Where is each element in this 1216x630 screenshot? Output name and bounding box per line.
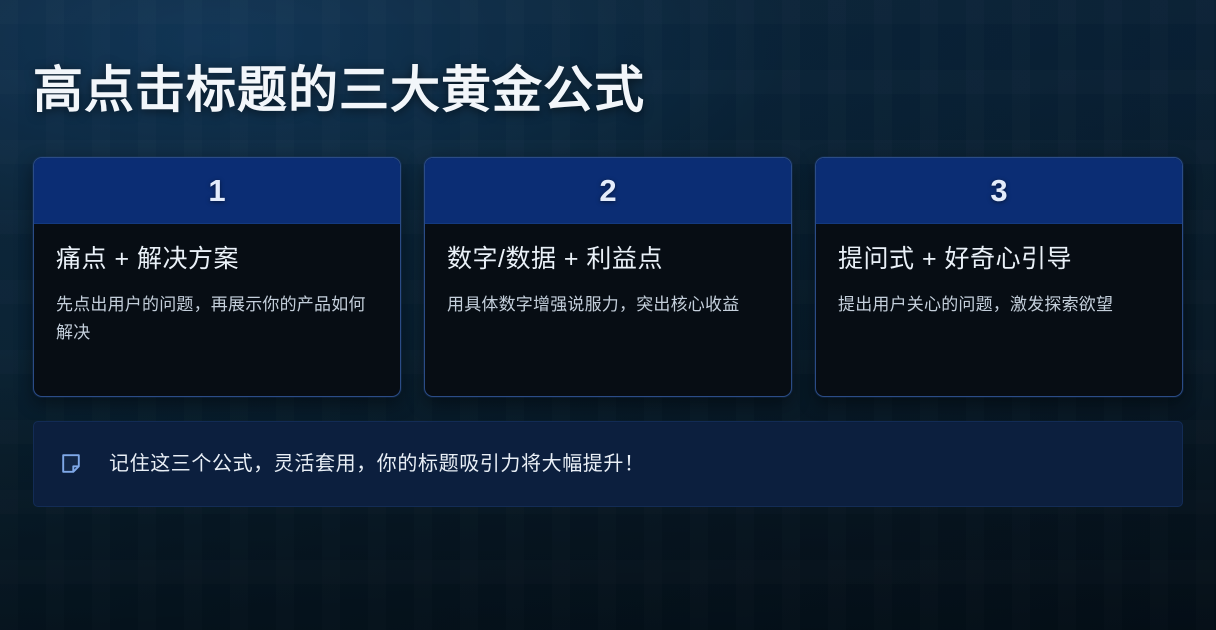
slide-content: 高点击标题的三大黄金公式 1 痛点 + 解决方案 先点出用户的问题，再展示你的产… <box>0 0 1216 507</box>
card-title-1: 痛点 + 解决方案 <box>56 244 378 275</box>
page-title: 高点击标题的三大黄金公式 <box>33 0 1183 118</box>
card-body-1: 痛点 + 解决方案 先点出用户的问题，再展示你的产品如何解决 <box>34 224 400 396</box>
card-description-3: 提出用户关心的问题，激发探索欲望 <box>838 291 1160 319</box>
card-body-2: 数字/数据 + 利益点 用具体数字增强说服力，突出核心收益 <box>425 224 791 396</box>
card-header-3: 3 <box>816 158 1182 224</box>
card-title-3: 提问式 + 好奇心引导 <box>838 244 1160 275</box>
formula-card-3[interactable]: 3 提问式 + 好奇心引导 提出用户关心的问题，激发探索欲望 <box>815 157 1183 397</box>
slide-canvas: 高点击标题的三大黄金公式 1 痛点 + 解决方案 先点出用户的问题，再展示你的产… <box>0 0 1216 630</box>
card-header-2: 2 <box>425 158 791 224</box>
card-header-1: 1 <box>34 158 400 224</box>
card-description-2: 用具体数字增强说服力，突出核心收益 <box>447 291 769 319</box>
summary-text: 记住这三个公式，灵活套用，你的标题吸引力将大幅提升！ <box>109 451 645 477</box>
formula-card-1[interactable]: 1 痛点 + 解决方案 先点出用户的问题，再展示你的产品如何解决 <box>33 157 401 397</box>
card-title-2: 数字/数据 + 利益点 <box>447 244 769 275</box>
card-description-1: 先点出用户的问题，再展示你的产品如何解决 <box>56 291 378 346</box>
summary-banner: 记住这三个公式，灵活套用，你的标题吸引力将大幅提升！ <box>33 421 1183 507</box>
card-number-1: 1 <box>208 175 225 206</box>
card-number-3: 3 <box>990 175 1007 206</box>
card-body-3: 提问式 + 好奇心引导 提出用户关心的问题，激发探索欲望 <box>816 224 1182 396</box>
formula-card-2[interactable]: 2 数字/数据 + 利益点 用具体数字增强说服力，突出核心收益 <box>424 157 792 397</box>
card-number-2: 2 <box>599 175 616 206</box>
formula-card-list: 1 痛点 + 解决方案 先点出用户的问题，再展示你的产品如何解决 2 数字/数据… <box>33 157 1183 397</box>
sticky-note-icon <box>59 452 83 476</box>
